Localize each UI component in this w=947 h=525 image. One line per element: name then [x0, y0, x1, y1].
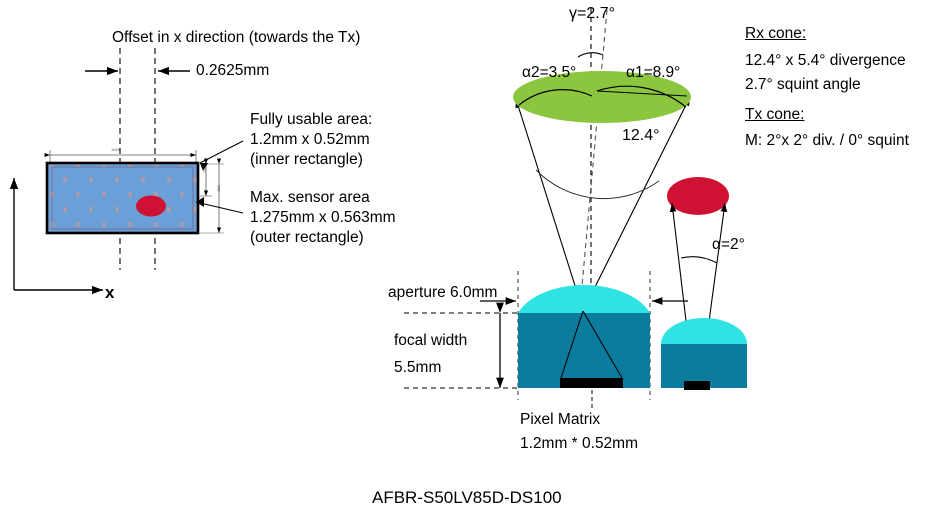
divergence-arc	[536, 170, 659, 199]
micro-height-large-label: 488	[216, 185, 221, 192]
alpha1-angle-label: α1=8.9°	[626, 63, 680, 82]
pixel-matrix-line2: 1.2mm * 0.52mm	[520, 434, 638, 453]
offset-title: Offset in x direction (towards the Tx)	[112, 28, 360, 47]
gamma-angle-label: γ=2.7°	[569, 4, 615, 24]
rx-pixel-matrix	[560, 378, 623, 388]
sensor-array-group	[14, 48, 243, 290]
alpha2-angle-label: α2=3.5°	[522, 63, 576, 82]
active-pixel-spot	[136, 196, 166, 217]
figure-canvas: Offset in x direction (towards the Tx) 0…	[0, 0, 947, 525]
tx-pixel-matrix	[684, 381, 710, 390]
callout-max-line2: 1.275mm x 0.563mm	[250, 208, 396, 227]
rx-package-body	[518, 313, 650, 388]
footer-part-number: AFBR-S50LV85D-DS100	[372, 487, 562, 508]
tx-alpha-angle-label: α=2°	[712, 235, 745, 254]
rx-squint-axis	[578, 10, 607, 330]
focal-width-line2: 5.5mm	[394, 358, 441, 377]
leader-usable-area	[200, 141, 243, 163]
legend-tx-line1: M: 2°x 2° div. / 0° squint	[745, 131, 909, 150]
legend-tx-title: Tx cone:	[745, 105, 804, 124]
sensor-pixel-field	[47, 163, 198, 233]
callout-usable-line1: Fully usable area:	[250, 110, 372, 129]
legend-rx-line1: 12.4° x 5.4° divergence	[745, 51, 906, 70]
tx-lens-dome	[661, 318, 747, 344]
legend-rx-title: Rx cone:	[745, 24, 806, 43]
pixel-matrix-line1: Pixel Matrix	[520, 410, 600, 429]
micro-width-label: 1194	[111, 147, 120, 152]
divergence-angle-label: 12.4°	[622, 126, 660, 146]
callout-usable-line3: (inner rectangle)	[250, 150, 363, 169]
callout-max-line1: Max. sensor area	[250, 188, 370, 207]
rx-cone-edge-left	[516, 99, 583, 311]
legend-rx-line2: 2.7° squint angle	[745, 75, 861, 94]
callout-max-line3: (outer rectangle)	[250, 228, 364, 247]
tx-alpha-arc	[681, 257, 717, 263]
focal-width-line1: focal width	[394, 331, 467, 350]
tx-spot-ellipse	[667, 177, 729, 215]
axis-x-label: x	[105, 282, 114, 303]
callout-usable-line2: 1.2mm x 0.52mm	[250, 130, 370, 149]
offset-dimension-label: 0.2625mm	[196, 61, 269, 80]
micro-height-small-label: 130	[202, 166, 207, 173]
rx-lens-dome	[518, 285, 650, 313]
aperture-label: aperture 6.0mm	[388, 283, 497, 302]
tx-cone-group	[661, 177, 747, 390]
